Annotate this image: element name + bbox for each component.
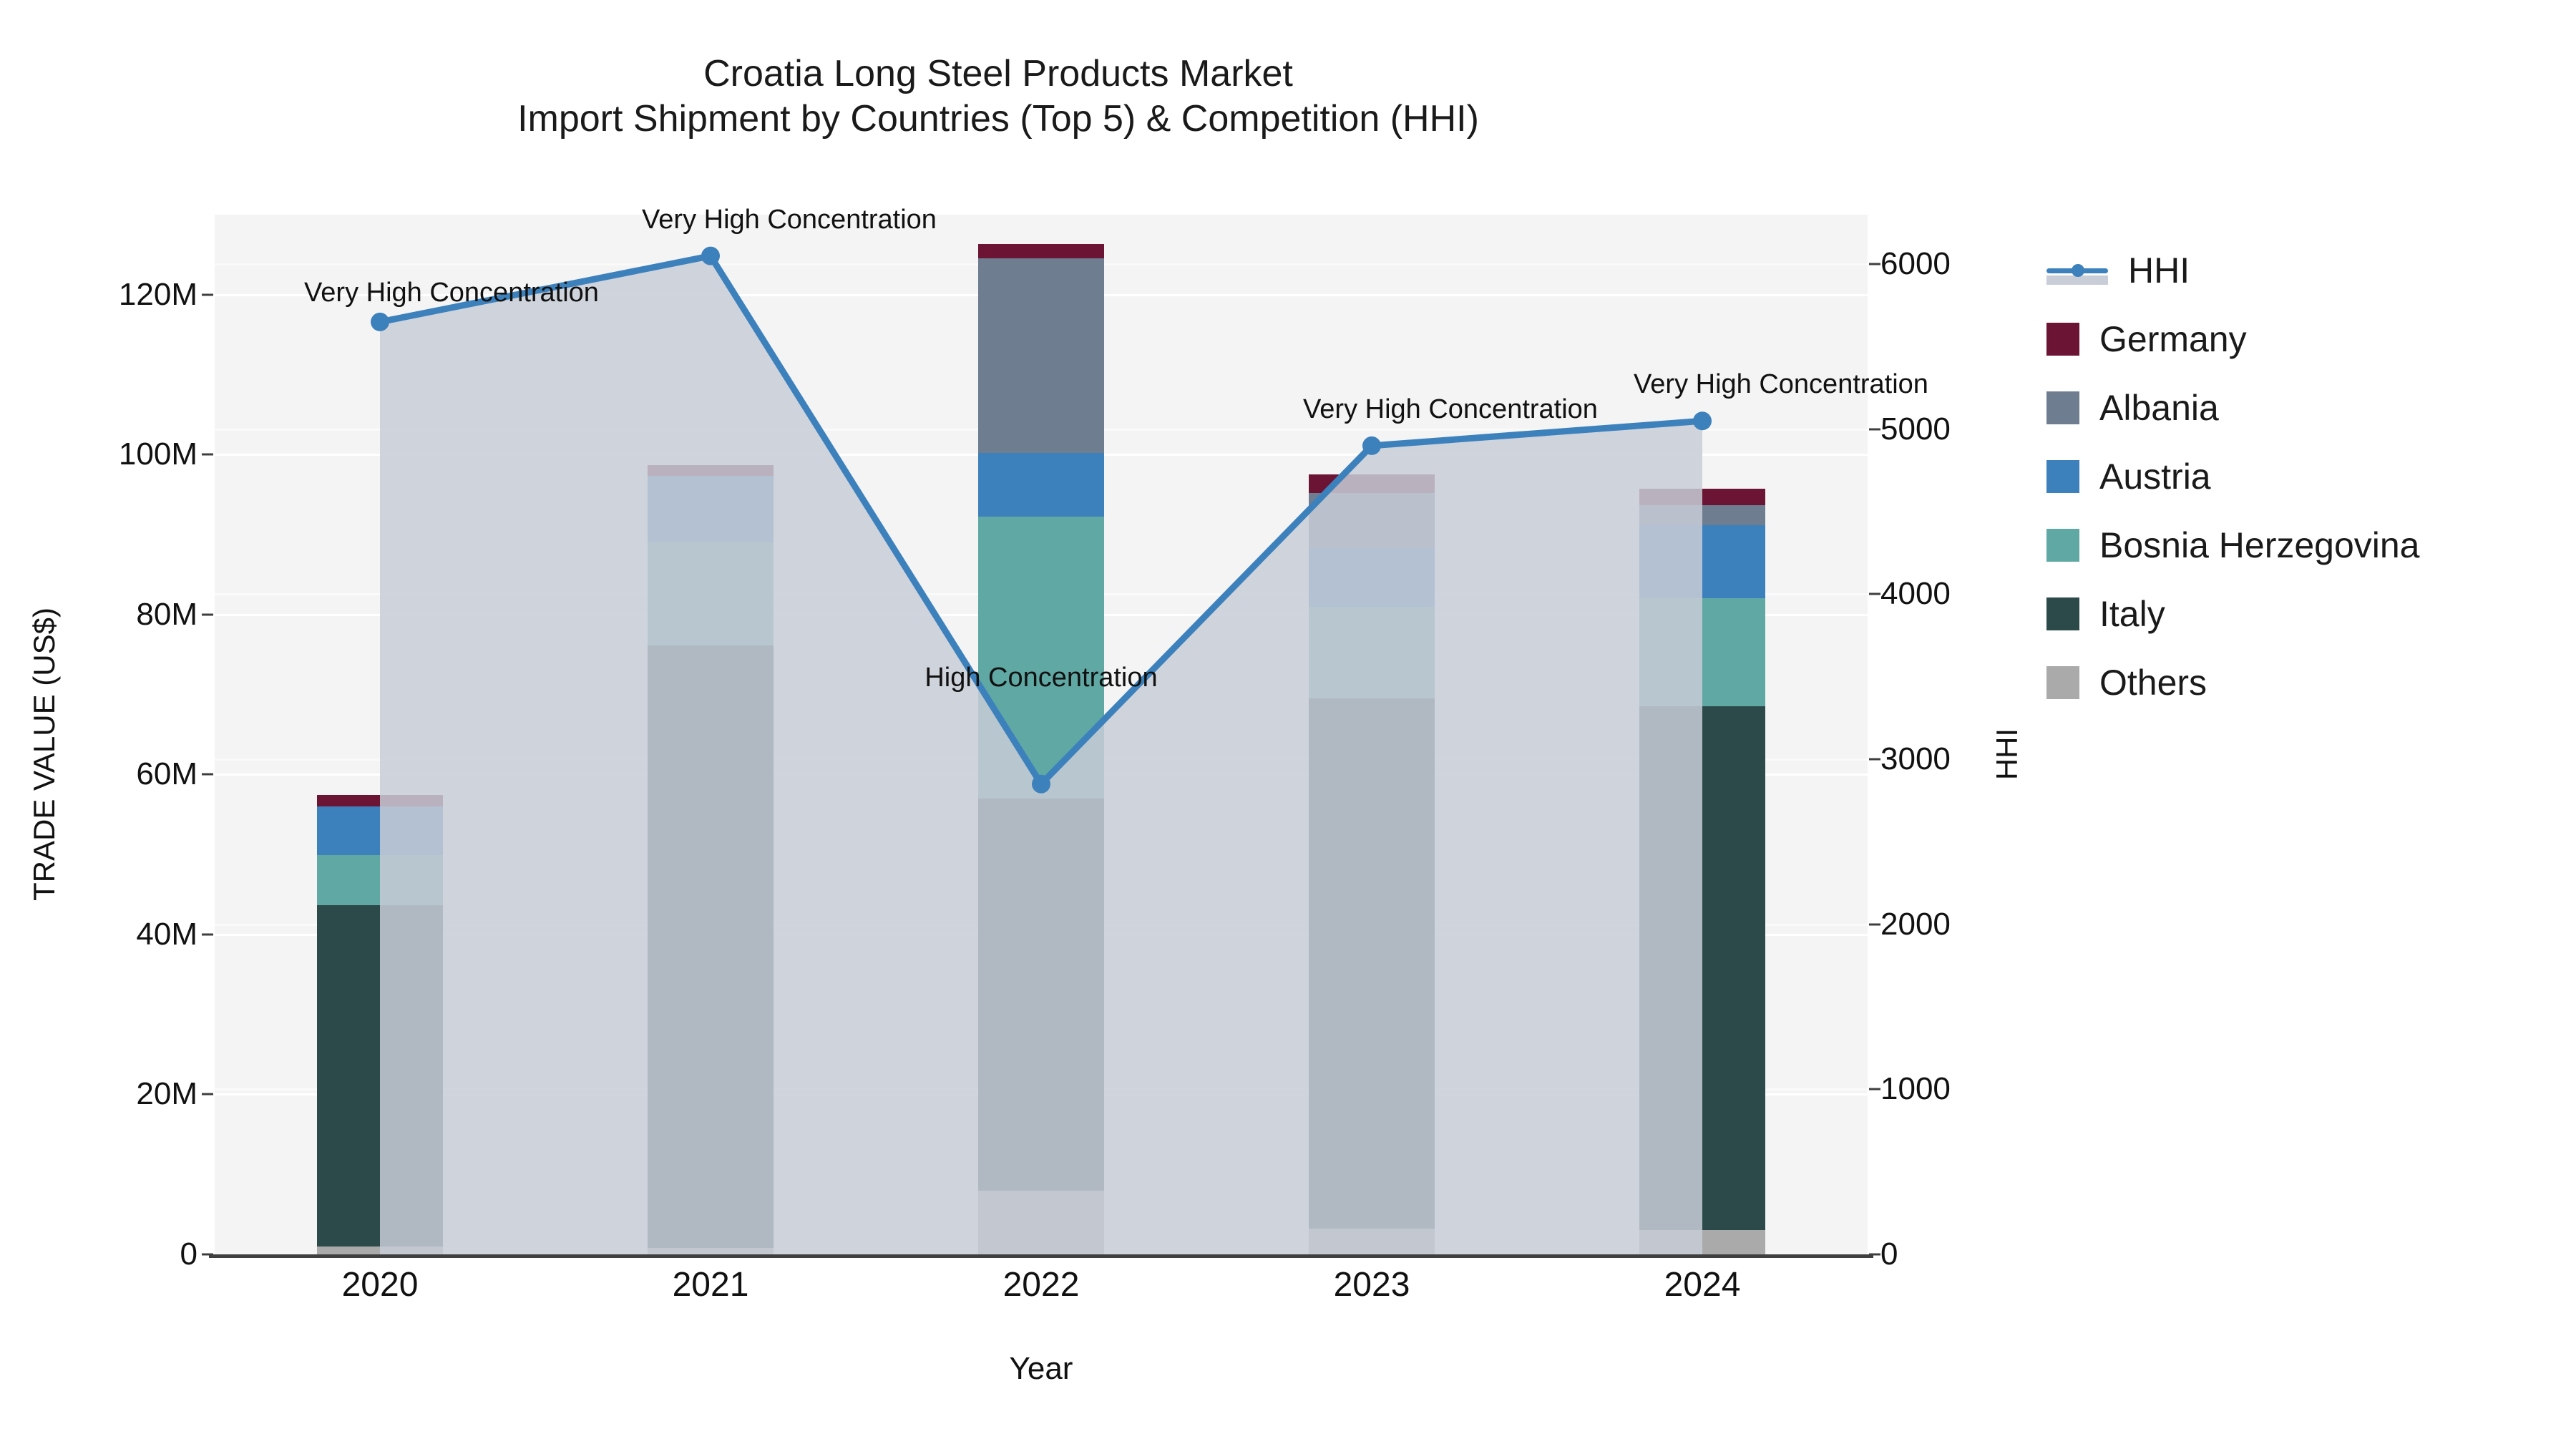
bar-segment[interactable] bbox=[317, 905, 443, 1246]
y-axis-right-tick-label: 2000 bbox=[1880, 907, 1951, 942]
bar-segment[interactable] bbox=[648, 1248, 774, 1254]
legend-item[interactable]: Others bbox=[2046, 648, 2562, 717]
bar-segment[interactable] bbox=[1309, 548, 1435, 607]
y-axis-left-tick-label: 80M bbox=[136, 597, 197, 633]
y-axis-left-tick-label: 40M bbox=[136, 917, 197, 952]
y-axis-left-tick-label: 100M bbox=[119, 436, 197, 472]
y-axis-left-tick-mark bbox=[202, 293, 213, 296]
chart-title-line-2: Import Shipment by Countries (Top 5) & C… bbox=[0, 97, 1996, 142]
x-axis-tick-label: 2021 bbox=[673, 1265, 749, 1304]
y-axis-left-tick-label: 120M bbox=[119, 277, 197, 313]
bar-segment[interactable] bbox=[1639, 525, 1765, 599]
bar-segment[interactable] bbox=[978, 517, 1104, 798]
bar-segment[interactable] bbox=[978, 799, 1104, 1191]
bar-segment[interactable] bbox=[978, 1191, 1104, 1254]
x-axis-tick-label: 2020 bbox=[342, 1265, 419, 1304]
legend-item-label: Others bbox=[2099, 662, 2207, 703]
y-axis-right-tick-mark bbox=[1869, 593, 1880, 595]
y-axis-right-tick-label: 5000 bbox=[1880, 411, 1951, 447]
y-axis-right-tick-label: 0 bbox=[1880, 1236, 1898, 1272]
x-axis-tick-label: 2024 bbox=[1664, 1265, 1741, 1304]
bar-segment[interactable] bbox=[648, 645, 774, 1248]
legend-swatch-icon bbox=[2046, 323, 2079, 356]
y-axis-left-tick-label: 60M bbox=[136, 756, 197, 792]
y-axis-left-tick-mark bbox=[202, 774, 213, 776]
legend-item[interactable]: Bosnia Herzegovina bbox=[2046, 511, 2562, 580]
bar-segment[interactable] bbox=[1309, 1229, 1435, 1254]
y-axis-left-tick-label: 20M bbox=[136, 1076, 197, 1112]
bar-segment[interactable] bbox=[317, 806, 443, 855]
bar-segment[interactable] bbox=[978, 453, 1104, 517]
bar-segment[interactable] bbox=[648, 465, 774, 477]
y-axis-right-ticks: 0100020003000400050006000 bbox=[1880, 0, 2095, 1449]
y-axis-right-tick-mark bbox=[1869, 923, 1880, 925]
bar-segment[interactable] bbox=[978, 258, 1104, 453]
legend-swatch-icon bbox=[2046, 460, 2079, 493]
legend-line-icon bbox=[2046, 254, 2108, 287]
y-axis-right-label: HHI bbox=[1990, 647, 2024, 862]
bar-segment[interactable] bbox=[1309, 474, 1435, 493]
hhi-annotation: Very High Concentration bbox=[642, 205, 937, 235]
legend-item-label: Germany bbox=[2099, 318, 2247, 360]
bar-segment[interactable] bbox=[1639, 1230, 1765, 1254]
chart-root: Croatia Long Steel Products Market Impor… bbox=[0, 0, 2576, 1449]
y-axis-right-tick-mark bbox=[1869, 758, 1880, 761]
bar-segment[interactable] bbox=[1309, 607, 1435, 699]
bar-segment[interactable] bbox=[978, 244, 1104, 258]
y-axis-right-tick-label: 1000 bbox=[1880, 1071, 1951, 1107]
hhi-annotation: Very High Concentration bbox=[1303, 394, 1598, 425]
bar-segment[interactable] bbox=[1309, 698, 1435, 1229]
bar-segment[interactable] bbox=[317, 855, 443, 904]
y-axis-left-tick-mark bbox=[202, 454, 213, 456]
x-axis-label: Year bbox=[215, 1351, 1868, 1387]
y-axis-right-tick-mark bbox=[1869, 263, 1880, 265]
y-axis-left-label: TRADE VALUE (US$) bbox=[27, 590, 62, 919]
y-axis-right-tick-label: 3000 bbox=[1880, 741, 1951, 777]
chart-title: Croatia Long Steel Products Market Impor… bbox=[0, 52, 1996, 142]
bar-segment[interactable] bbox=[1639, 489, 1765, 504]
legend-swatch-icon bbox=[2046, 529, 2079, 562]
legend-swatch-icon bbox=[2046, 666, 2079, 699]
bar-segment[interactable] bbox=[317, 795, 443, 806]
legend-item[interactable]: HHI bbox=[2046, 236, 2562, 305]
bar-segment[interactable] bbox=[648, 542, 774, 645]
x-axis-tick-label: 2022 bbox=[1003, 1265, 1080, 1304]
y-axis-left-tick-mark bbox=[202, 1254, 213, 1256]
legend-item-label: Italy bbox=[2099, 593, 2165, 635]
bar-segment[interactable] bbox=[317, 1246, 443, 1254]
y-axis-right-tick-mark bbox=[1869, 1254, 1880, 1256]
y-axis-left-tick-mark bbox=[202, 613, 213, 615]
y-axis-right-tick-mark bbox=[1869, 1088, 1880, 1091]
legend-swatch-icon bbox=[2046, 391, 2079, 424]
y-axis-left-tick-label: 0 bbox=[180, 1236, 197, 1272]
y-axis-left-tick-mark bbox=[202, 1093, 213, 1096]
y-axis-right-tick-label: 6000 bbox=[1880, 246, 1951, 282]
legend-item-label: Bosnia Herzegovina bbox=[2099, 525, 2420, 566]
legend: HHIGermanyAlbaniaAustriaBosnia Herzegovi… bbox=[2046, 236, 2562, 717]
legend-item-label: Albania bbox=[2099, 387, 2219, 429]
legend-item-label: Austria bbox=[2099, 456, 2211, 497]
x-axis-tick-label: 2023 bbox=[1334, 1265, 1410, 1304]
bar-segment[interactable] bbox=[1639, 706, 1765, 1230]
legend-item[interactable]: Albania bbox=[2046, 374, 2562, 442]
y-axis-right-tick-label: 4000 bbox=[1880, 576, 1951, 612]
y-axis-right-tick-mark bbox=[1869, 428, 1880, 430]
hhi-annotation: Very High Concentration bbox=[304, 278, 599, 308]
legend-item[interactable]: Italy bbox=[2046, 580, 2562, 648]
legend-item[interactable]: Germany bbox=[2046, 305, 2562, 374]
legend-item[interactable]: Austria bbox=[2046, 442, 2562, 511]
bar-segment[interactable] bbox=[648, 476, 774, 542]
x-axis-line bbox=[209, 1254, 1873, 1258]
chart-title-line-1: Croatia Long Steel Products Market bbox=[0, 52, 1996, 97]
y-axis-left-tick-mark bbox=[202, 933, 213, 935]
legend-swatch-icon bbox=[2046, 597, 2079, 630]
legend-item-label: HHI bbox=[2128, 250, 2190, 291]
bar-segment[interactable] bbox=[1639, 598, 1765, 706]
bar-segment[interactable] bbox=[1309, 493, 1435, 548]
hhi-annotation: High Concentration bbox=[924, 663, 1157, 693]
bar-segment[interactable] bbox=[1639, 505, 1765, 525]
